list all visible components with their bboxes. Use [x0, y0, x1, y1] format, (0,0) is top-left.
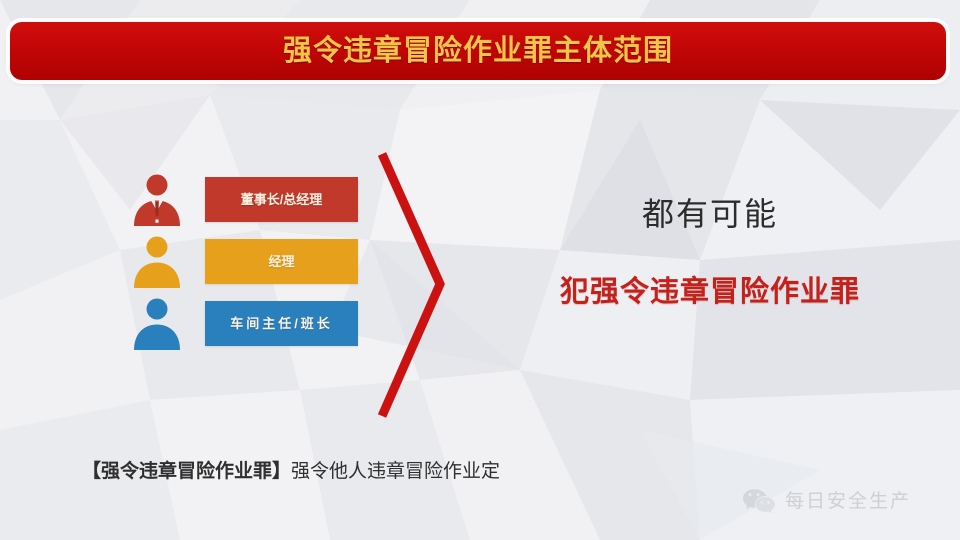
role-label-manager: 经理 [268, 255, 294, 268]
role-label-chairman: 董事长/总经理 [241, 193, 323, 206]
role-bar-foreman: 车间主任/班长 [205, 301, 358, 346]
role-row-chairman: 董事长/总经理 [128, 168, 368, 230]
conclusion-line-crime: 犯强令违章冒险作业罪 [500, 275, 920, 310]
watermark-label: 每日安全生产 [785, 492, 911, 511]
wechat-watermark: 每日安全生产 [742, 487, 911, 515]
role-bar-chairman: 董事长/总经理 [205, 177, 358, 222]
wechat-icon [742, 487, 776, 515]
caption-definition-text: 强令他人违章冒险作业定 [291, 461, 500, 482]
chevron-right-arrow [368, 150, 458, 420]
conclusion-block: 都有可能 犯强令违章冒险作业罪 [500, 195, 920, 310]
presentation-slide: 强令违章冒险作业罪主体范围 董事长/总经理 经理 [0, 0, 960, 540]
foreman-person-icon [128, 296, 186, 350]
page-title: 强令违章冒险作业罪主体范围 [283, 37, 673, 66]
role-row-foreman: 车间主任/班长 [128, 292, 368, 354]
bottom-caption: 【强令违章冒险作业罪】强令他人违章冒险作业定 [82, 460, 500, 485]
conclusion-line-primary: 都有可能 [500, 195, 920, 233]
slide-title-banner: 强令违章冒险作业罪主体范围 [10, 22, 946, 80]
role-bar-manager: 经理 [205, 239, 358, 284]
role-row-manager: 经理 [128, 230, 368, 292]
role-hierarchy-list: 董事长/总经理 经理 车间主任/班长 [128, 168, 368, 354]
caption-crime-name: 【强令违章冒险作业罪】 [82, 461, 291, 482]
role-label-foreman: 车间主任/班长 [230, 317, 333, 330]
executive-person-icon [128, 172, 186, 226]
manager-person-icon [128, 234, 186, 288]
